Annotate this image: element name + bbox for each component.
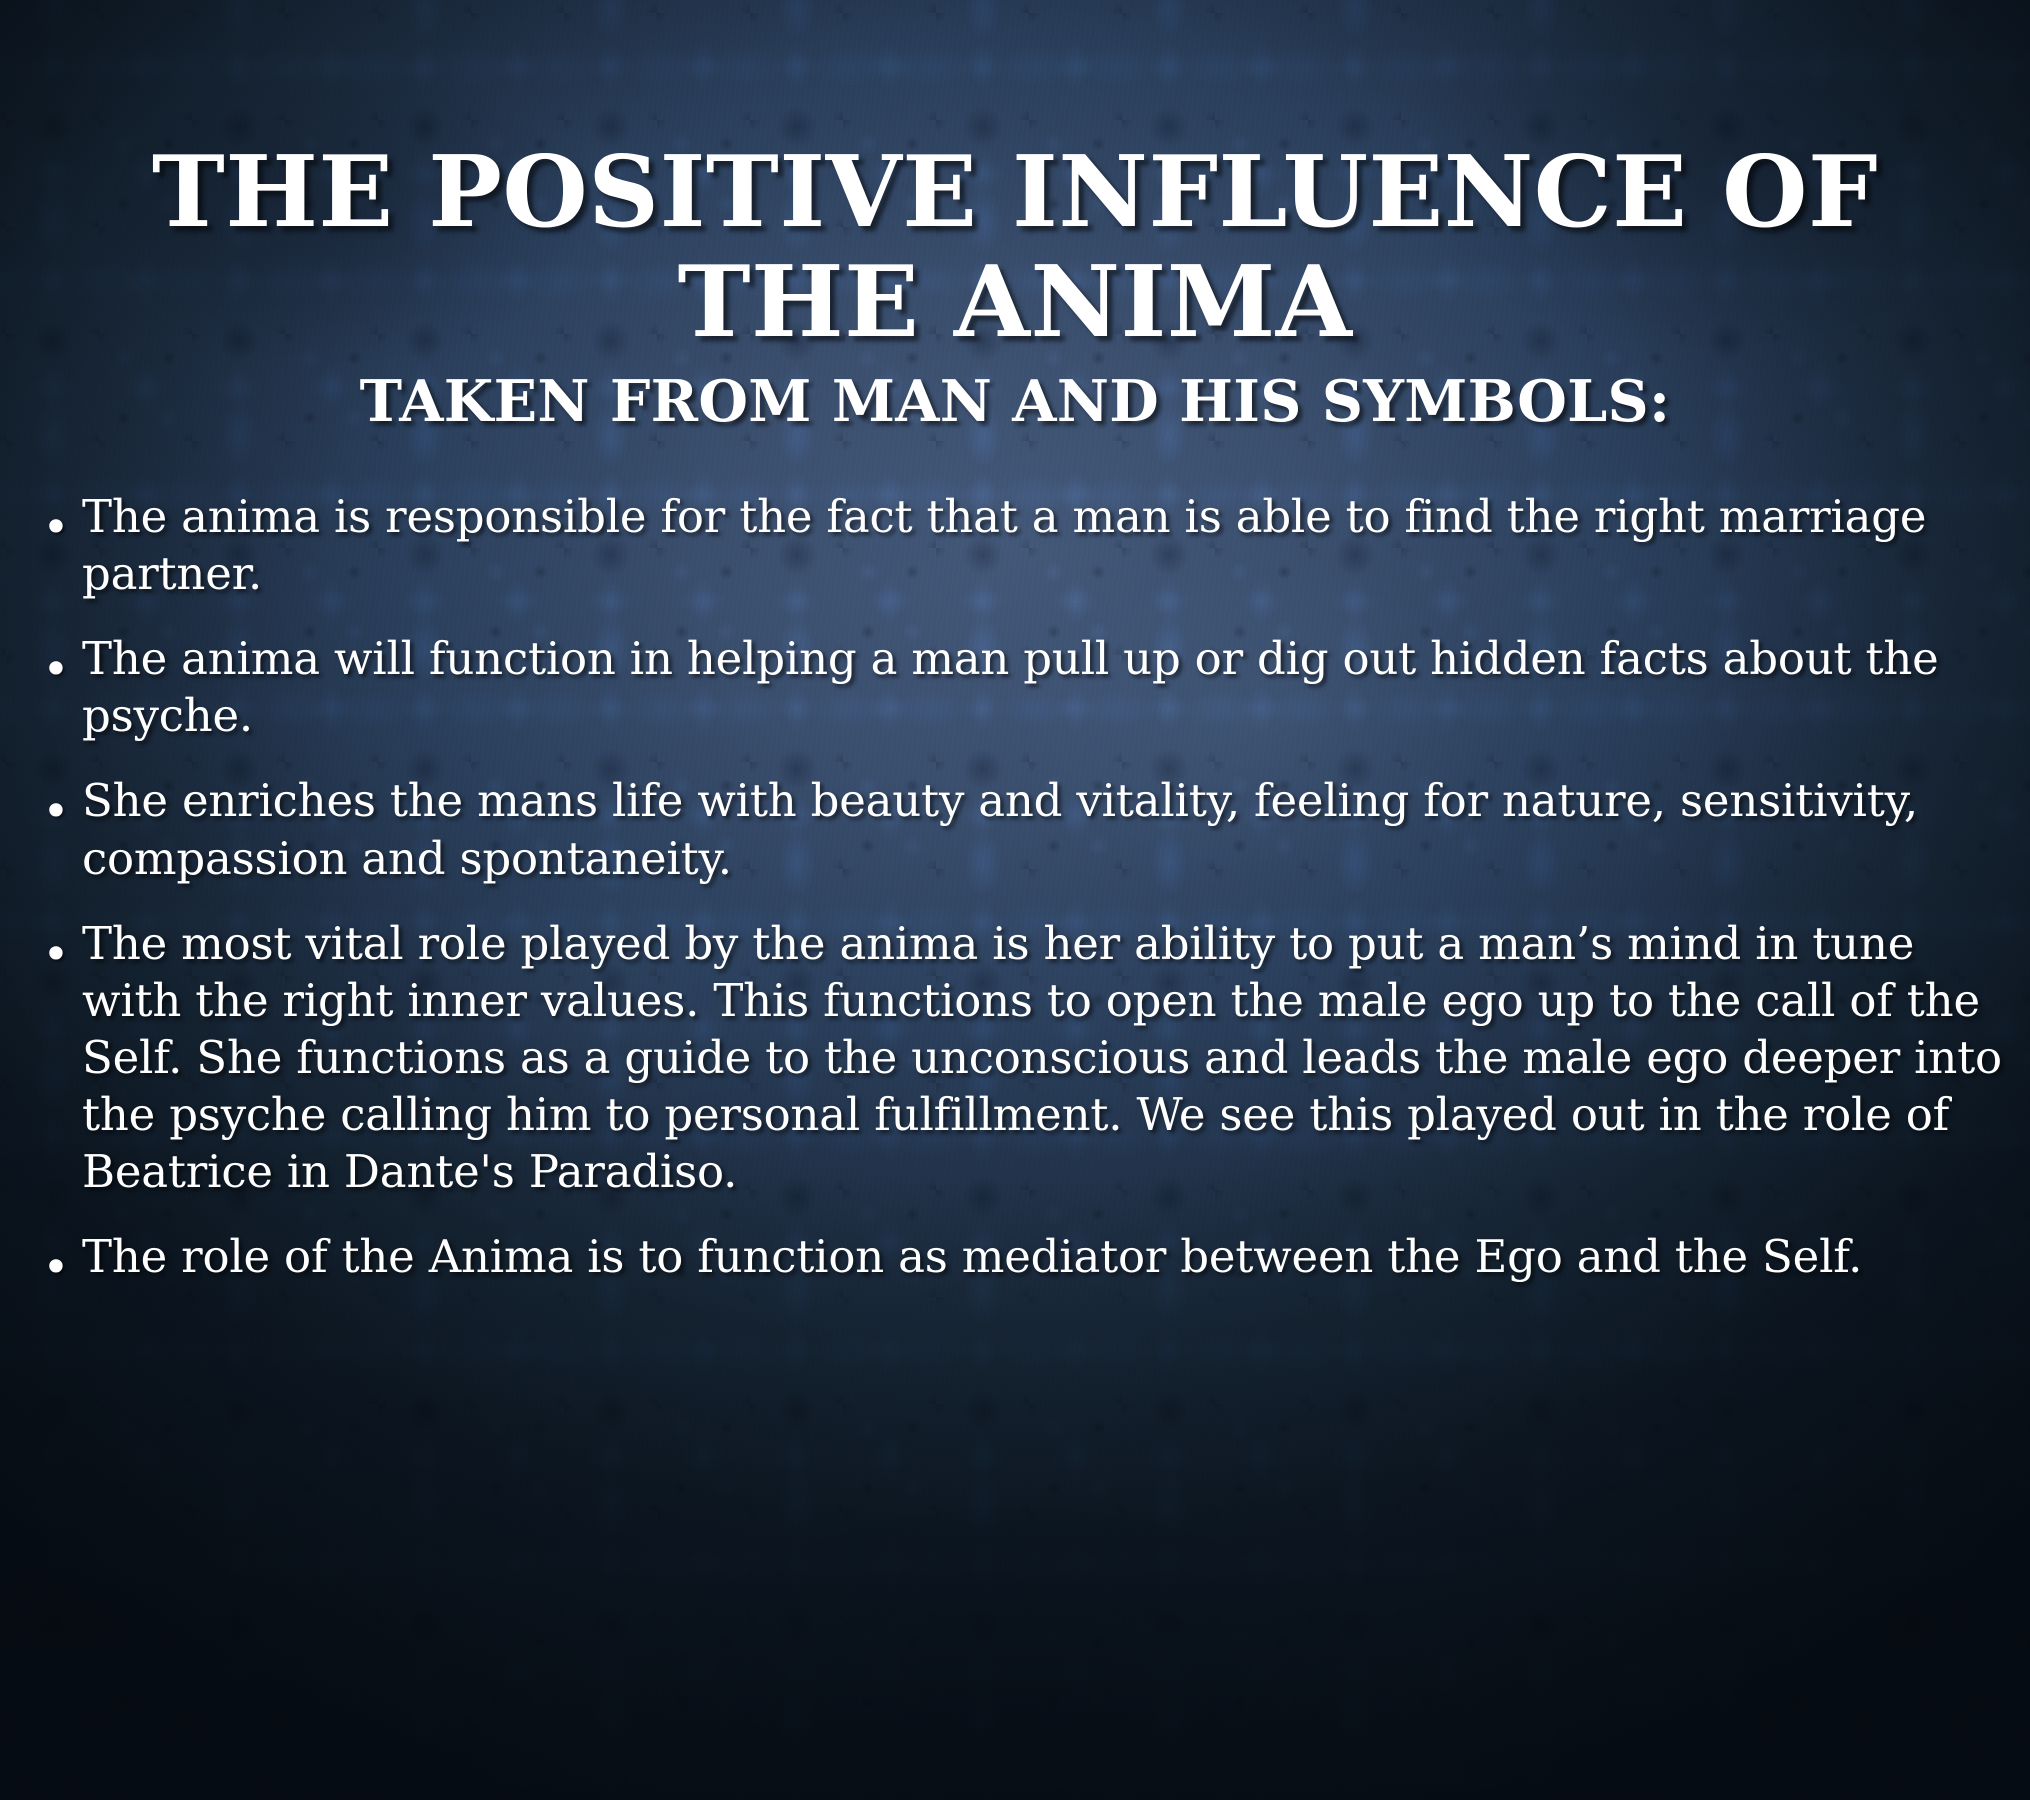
slide-subtitle: TAKEN FROM MAN AND HIS SYMBOLS: <box>0 368 2030 436</box>
bullet-text: The role of the Anima is to function as … <box>82 1228 2004 1285</box>
bullet-list: • The anima is responsible for the fact … <box>0 488 2030 1291</box>
bullet-point-icon: • <box>30 488 82 550</box>
bullet-point-icon: • <box>30 772 82 834</box>
list-item: • She enriches the mans life with beauty… <box>30 772 2012 886</box>
list-item: • The anima is responsible for the fact … <box>30 488 2012 602</box>
bullet-point-icon: • <box>30 915 82 977</box>
list-item: • The role of the Anima is to function a… <box>30 1228 2012 1290</box>
list-item: • The anima will function in helping a m… <box>30 630 2012 744</box>
title-block: THE POSITIVE INFLUENCE OF THE ANIMA TAKE… <box>0 0 2030 436</box>
slide-title: THE POSITIVE INFLUENCE OF THE ANIMA <box>85 138 1945 358</box>
slide-content: THE POSITIVE INFLUENCE OF THE ANIMA TAKE… <box>0 0 2030 1800</box>
bullet-point-icon: • <box>30 1228 82 1290</box>
list-item: • The most vital role played by the anim… <box>30 915 2012 1201</box>
bullet-text: The anima is responsible for the fact th… <box>82 488 2004 602</box>
presentation-slide: THE POSITIVE INFLUENCE OF THE ANIMA TAKE… <box>0 0 2030 1800</box>
bullet-point-icon: • <box>30 630 82 692</box>
bullet-text: The anima will function in helping a man… <box>82 630 2004 744</box>
bullet-text: She enriches the mans life with beauty a… <box>82 772 2004 886</box>
bullet-text: The most vital role played by the anima … <box>82 915 2004 1201</box>
